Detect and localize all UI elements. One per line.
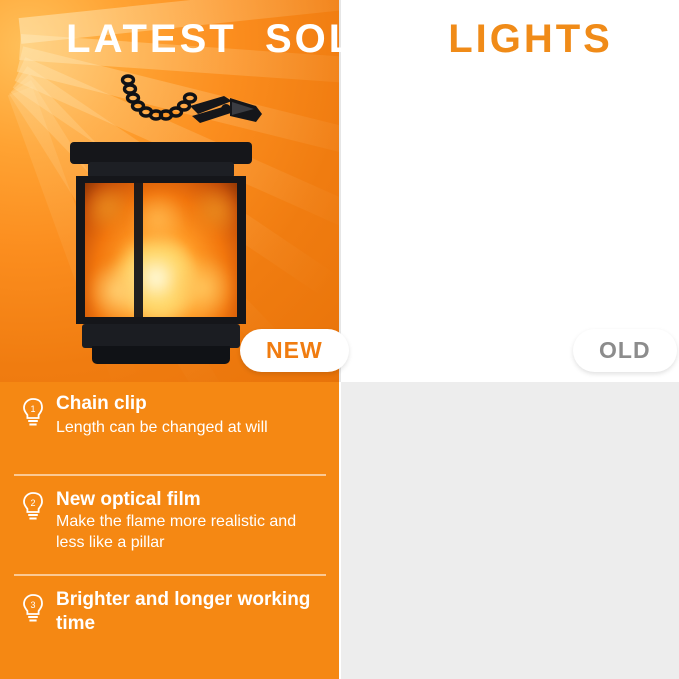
lantern-frame-top xyxy=(76,176,246,183)
lantern-frame-bottom xyxy=(76,317,246,324)
lightbulb-icon: 1 xyxy=(22,398,44,428)
lantern-edge-mid xyxy=(134,176,143,324)
feature-title: New optical film xyxy=(56,488,201,512)
alligator-clip-icon xyxy=(186,92,266,136)
lantern-edge-right xyxy=(237,176,246,324)
lightbulb-icon: 2 xyxy=(22,492,44,522)
lantern-base xyxy=(82,324,240,348)
feature-comparison-section: 1 Chain clip Length can be changed at wi… xyxy=(0,382,679,679)
badge-new: NEW xyxy=(240,329,349,372)
solar-panel-top xyxy=(70,142,252,164)
feature-title: Chain clip xyxy=(56,392,147,416)
title-word-solar: SOLAR xyxy=(265,17,420,61)
new-lantern-image xyxy=(56,70,266,370)
row-divider xyxy=(14,574,326,576)
feature-desc: Make the flame more realistic and less l… xyxy=(56,511,306,553)
old-features-column: 1 Fixing clip The length is immutable 2 … xyxy=(340,382,679,679)
feature-desc: Length can be changed at will xyxy=(56,417,296,438)
lightbulb-icon: 3 xyxy=(22,594,44,624)
badge-old: OLD xyxy=(573,329,677,372)
svg-text:3: 3 xyxy=(30,600,35,610)
new-lantern-body xyxy=(76,142,246,368)
flame-glass-panel xyxy=(80,176,242,324)
new-features-column: 1 Chain clip Length can be changed at wi… xyxy=(0,382,340,679)
row-divider xyxy=(14,474,326,476)
svg-text:1: 1 xyxy=(30,404,35,414)
title-word-lights: LIGHTS xyxy=(448,17,613,61)
product-comparison-infographic: LATEST SOLAR LIGHTS NEW OLD 1 Chain clip… xyxy=(0,0,679,679)
page-title: LATEST SOLAR LIGHTS xyxy=(0,8,679,70)
lantern-foot xyxy=(92,346,230,364)
lantern-edge-left xyxy=(76,176,85,324)
svg-text:2: 2 xyxy=(30,498,35,508)
column-divider xyxy=(339,382,341,679)
hero-section: LATEST SOLAR LIGHTS NEW OLD xyxy=(0,0,679,382)
title-word-latest: LATEST xyxy=(66,17,237,61)
feature-title: Brighter and longer working time xyxy=(56,588,311,636)
